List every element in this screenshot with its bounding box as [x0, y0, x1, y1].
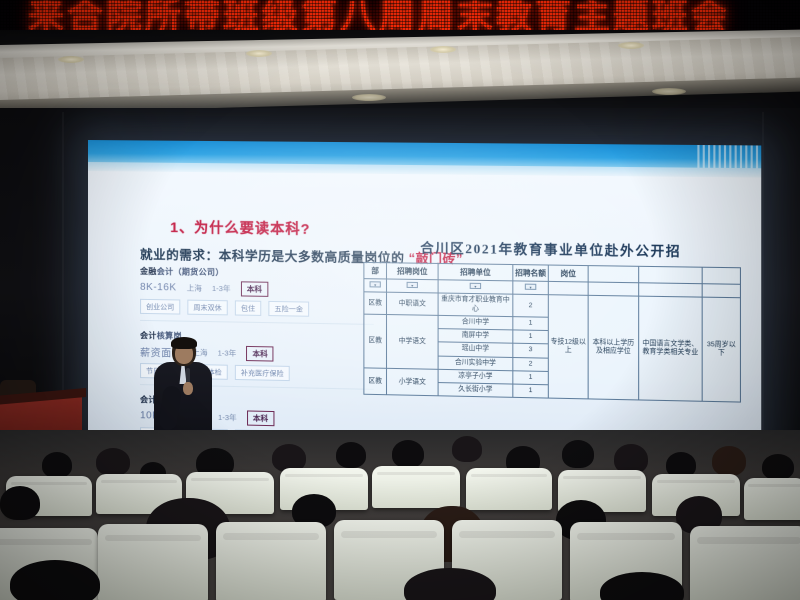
cell-unit: 合川实验中学 — [438, 356, 513, 371]
job-tag-list: 创业公司 周末双休 包住 五险一金 — [140, 299, 374, 318]
audience-head — [762, 454, 794, 480]
filter-cell[interactable] — [548, 282, 588, 296]
audience-head — [392, 440, 424, 468]
job-title-rest: 会计（期货公司） — [157, 267, 224, 277]
lecture-hall-photo: 来合院所带班级第八周周末教育主题班会 1、为什么要读本科? 就业的需求：本科学历… — [0, 0, 800, 600]
cell-unit: 瑶山中学 — [438, 342, 513, 357]
filter-cell[interactable]: ▾ — [387, 279, 439, 293]
job-degree-requirement: 本科 — [247, 410, 274, 426]
job-divider — [140, 320, 374, 325]
cell-education: 本科以上学历及相应学位 — [588, 296, 639, 400]
ceiling-downlight — [246, 50, 272, 57]
cell-count: 1 — [513, 330, 548, 344]
chair-cover — [690, 526, 800, 600]
cell-age: 35周岁以下 — [702, 298, 740, 403]
chair-cover — [216, 522, 326, 600]
cell-unit: 南屏中学 — [438, 329, 513, 344]
led-banner-text: 来合院所带班级第八周周末教育主题班会 — [28, 0, 800, 30]
slide-title: 1、为什么要读本科? — [170, 217, 310, 239]
job-tag: 包住 — [235, 300, 261, 316]
cell-post: 中学语文 — [387, 314, 439, 369]
cell-unit: 重庆市育才职业教育中心 — [438, 293, 513, 316]
audience-head — [96, 448, 130, 476]
job-meta: 8K-16K 上海 1-3年 本科 — [140, 280, 374, 299]
cell-unit: 久长街小学 — [438, 383, 513, 398]
job-salary: 8K-16K — [140, 282, 177, 294]
filter-cell[interactable] — [588, 282, 639, 296]
cell-major: 中国语言文学类、教育学类相关专业 — [639, 297, 703, 402]
filter-cell[interactable]: ▾ — [438, 280, 513, 295]
col-header-education — [588, 266, 639, 283]
cell-grade: 专技12级以上 — [548, 295, 588, 399]
job-experience: 1-3年 — [218, 347, 237, 358]
job-city: 上海 — [187, 283, 202, 294]
cell-area: 区教 — [364, 368, 387, 395]
audience-head — [10, 560, 100, 600]
audience-head — [562, 440, 594, 468]
presenter-hair — [171, 337, 197, 349]
filter-cell[interactable] — [702, 284, 740, 298]
cell-area: 区教 — [364, 314, 387, 368]
chevron-down-icon[interactable]: ▾ — [407, 282, 418, 288]
audience-head — [0, 486, 40, 520]
chevron-down-icon[interactable]: ▾ — [370, 282, 381, 288]
filter-cell[interactable]: ▾ — [364, 279, 387, 293]
ceiling-downlight — [430, 46, 456, 53]
audience-head — [712, 446, 746, 476]
audience-head — [42, 452, 72, 478]
col-header-count: 招聘名额 — [513, 265, 548, 282]
chair-cover — [744, 478, 800, 520]
job-tag: 五险一金 — [268, 301, 309, 317]
job-tag: 补充医疗保险 — [235, 365, 290, 381]
ceiling-downlight — [652, 88, 686, 95]
job-degree-requirement: 本科 — [246, 346, 273, 362]
backdrop-panel-seam — [762, 112, 764, 432]
col-header-post: 招聘岗位 — [387, 263, 439, 280]
cell-post: 小学语文 — [387, 368, 439, 396]
recruitment-table: 部 招聘岗位 招聘单位 招聘名额 岗位 ▾ ▾ ▾ — [363, 262, 741, 403]
job-degree-requirement: 本科 — [241, 281, 268, 297]
audience-head — [452, 436, 482, 462]
cell-count: 2 — [513, 295, 548, 318]
chevron-down-icon[interactable]: ▾ — [470, 283, 481, 289]
chair-cover — [98, 524, 208, 600]
recruitment-table-block: 合川区2021年教育事业单位赴外公开招 部 招聘岗位 招聘单位 招聘名额 岗位 — [363, 237, 740, 403]
cell-area: 区教 — [364, 292, 387, 314]
audience-head — [336, 442, 366, 468]
filter-cell[interactable]: ▾ — [513, 281, 548, 295]
job-listing-item: 金融会计（期货公司） 8K-16K 上海 1-3年 本科 创业公司 周末双休 包… — [140, 266, 374, 325]
cell-count: 1 — [513, 384, 548, 398]
col-header-age — [702, 267, 740, 284]
cell-post: 中职语文 — [387, 293, 439, 316]
job-title-keyword: 金融 — [140, 267, 157, 276]
job-tag: 创业公司 — [140, 299, 180, 315]
filter-cell[interactable] — [639, 283, 703, 298]
ceiling-downlight — [352, 94, 386, 101]
ceiling-downlight — [618, 42, 644, 49]
col-header-major — [639, 266, 703, 284]
cell-count: 2 — [513, 357, 548, 371]
job-experience: 1-3年 — [218, 412, 237, 423]
chevron-down-icon[interactable]: ▾ — [525, 284, 536, 290]
presenter-hand — [183, 382, 193, 395]
cell-count: 1 — [513, 371, 548, 385]
col-header-grade: 岗位 — [548, 265, 588, 282]
led-banner: 来合院所带班级第八周周末教育主题班会 — [0, 0, 800, 30]
job-experience: 1-3年 — [212, 283, 231, 294]
backdrop-panel-seam — [62, 112, 64, 432]
ceiling-downlight — [58, 56, 84, 63]
chair-cover — [372, 466, 460, 508]
cell-count: 3 — [513, 344, 548, 358]
col-header-area: 部 — [364, 262, 387, 279]
job-tag: 周末双休 — [187, 300, 227, 316]
recruitment-table-title: 合川区2021年教育事业单位赴外公开招 — [363, 237, 740, 261]
col-header-unit: 招聘单位 — [438, 263, 513, 281]
job-title: 金融会计（期货公司） — [140, 266, 374, 281]
cell-unit: 合川中学 — [438, 315, 513, 330]
cell-count: 1 — [513, 317, 548, 331]
chair-cover — [466, 468, 552, 510]
